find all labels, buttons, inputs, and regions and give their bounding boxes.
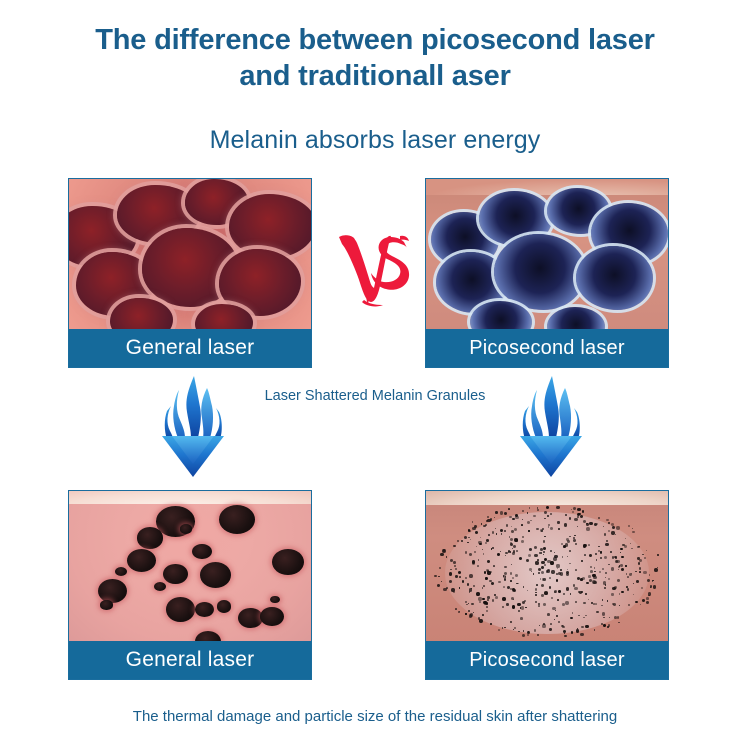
panel-caption-general-laser-top: General laser xyxy=(69,329,311,367)
photo-skin-large-dark-spots xyxy=(69,491,311,643)
page-subtitle: Melanin absorbs laser energy xyxy=(0,126,750,155)
process-label: Laser Shattered Melanin Granules xyxy=(230,388,520,404)
panel-picosecond-laser-residual: Picosecond laser xyxy=(425,490,669,680)
flame-down-arrow-icon-left xyxy=(158,374,228,479)
vs-badge xyxy=(336,222,416,318)
panel-picosecond-laser-melanin: Picosecond laser xyxy=(425,178,669,368)
flame-down-arrow-icon-right xyxy=(516,374,586,479)
panel-caption-picosecond-laser-bottom: Picosecond laser xyxy=(426,641,668,679)
page-title: The difference between picosecond laser … xyxy=(0,22,750,94)
panel-general-laser-residual: General laser xyxy=(68,490,312,680)
photo-melanin-granules-red xyxy=(69,179,311,331)
footer-caption: The thermal damage and particle size of … xyxy=(0,708,750,725)
page-title-line-1: The difference between picosecond laser xyxy=(0,22,750,58)
photo-skin-fine-particles xyxy=(426,491,668,643)
panel-general-laser-melanin: General laser xyxy=(68,178,312,368)
page-title-line-2: and traditionall aser xyxy=(0,58,750,94)
photo-melanin-granules-blue xyxy=(426,179,668,331)
panel-caption-general-laser-bottom: General laser xyxy=(69,641,311,679)
panel-caption-picosecond-laser-top: Picosecond laser xyxy=(426,329,668,367)
